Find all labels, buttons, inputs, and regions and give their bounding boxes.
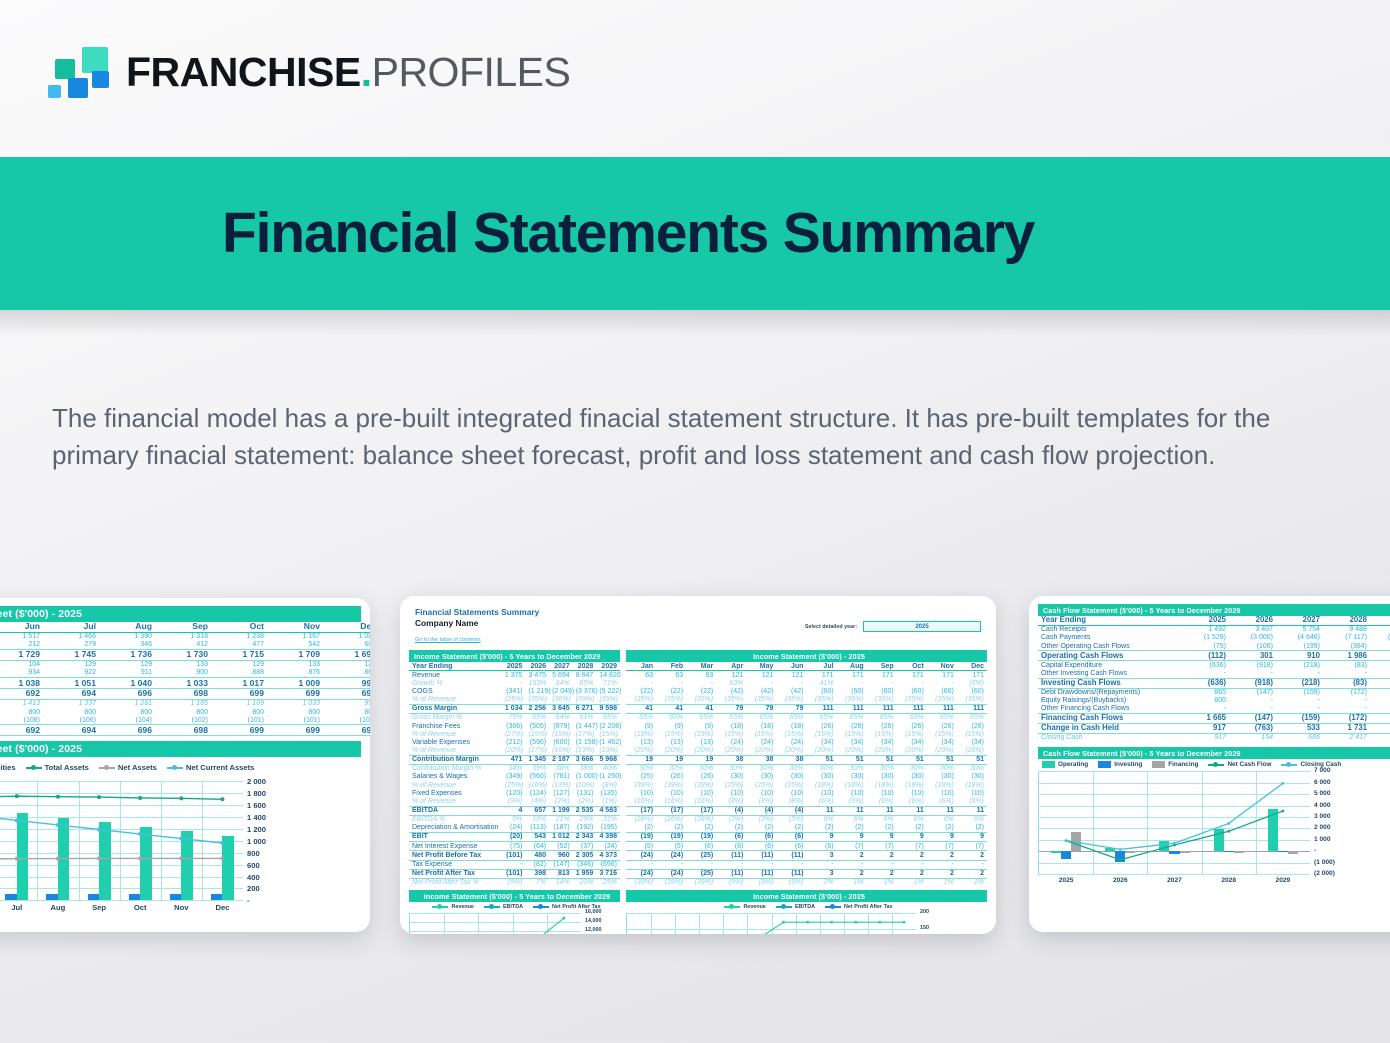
table-cell: (42) [776, 688, 806, 696]
legend-swatch [99, 767, 115, 769]
table-cell: Jun [776, 662, 806, 671]
legend-swatch [1208, 764, 1224, 766]
year-picker[interactable]: Select detailed year: 2025 [805, 621, 981, 632]
table-cell: (8%) [596, 781, 620, 789]
row-label: Net Interest Expense [409, 842, 502, 851]
y-axis-tick-label: - [1314, 847, 1316, 854]
table-cell: 30% [656, 765, 686, 774]
table-cell: (636) [1182, 678, 1229, 688]
table-cell: 11 [837, 806, 867, 815]
table-row: Net Profit Before Tax(101)4809602 3054 3… [409, 851, 620, 860]
table-cell: 153% [525, 680, 549, 688]
table-cell: (120) [502, 789, 526, 797]
table-cell: Dec [957, 662, 987, 671]
legend-item: Revenue [432, 904, 473, 910]
table-cell: (10) [927, 789, 957, 797]
table-cell: 30% [837, 765, 867, 774]
table-cell: 171 [957, 671, 987, 680]
table-cell: (2) [867, 824, 897, 833]
table-cell: (11) [776, 869, 806, 878]
table-cell: (20%) [897, 747, 927, 756]
table-cell: (341) [502, 688, 526, 696]
table-cell: (10) [776, 789, 806, 797]
table-cell: (30) [746, 773, 776, 781]
y-axis-tick-label: 7 000 [1314, 767, 1331, 774]
table-cell: 2 [897, 869, 927, 878]
row-label: Financing Cash Flows [1038, 714, 1182, 724]
table-cell: (11) [776, 851, 806, 860]
table-cell: 1 665 [1182, 714, 1229, 724]
table-cell: 6% [957, 815, 987, 824]
table-cell: 699 [211, 725, 267, 736]
legend-item: Financing [1152, 761, 1198, 768]
table-cell: 171 [806, 671, 836, 680]
table-cell: 64% [549, 714, 573, 723]
table-cell: (25%) [746, 781, 776, 789]
row-label: Gross Margin [409, 705, 502, 714]
table-cell: 301 [1229, 651, 1276, 661]
table-cell: (15%) [549, 730, 573, 738]
table-cell: Oct [897, 662, 927, 671]
table-row: (39%)(39%)(39%)(9%)(9%)(9%)2%1%1%1%1%1% [626, 878, 987, 887]
table-cell: 19 [656, 755, 686, 764]
table-cell: (2 049) [549, 688, 573, 696]
table-cell: - [1276, 705, 1323, 714]
table-cell: 9 [897, 833, 927, 842]
x-axis-tick-label: 2029 [1256, 877, 1310, 884]
table-cell: 38 [776, 755, 806, 764]
table-cell: 171 [927, 671, 957, 680]
table-cell: (35%) [867, 696, 897, 705]
legend-swatch [776, 906, 792, 908]
table-cell: (13) [656, 739, 686, 747]
y-axis-tick-label: - [247, 896, 250, 905]
table-row: (9)(9)(9)(18)(18)(18)(26)(26)(26)(26)(26… [626, 722, 987, 730]
table-row: EBIT(20)5431 0122 3434 398 [409, 833, 620, 842]
table-row: (20%)(20%)(20%)(20%)(20%)(20%)(20%)(20%)… [626, 747, 987, 756]
table-cell: (75) [502, 842, 526, 851]
table-row: 30%30%30%30%30%30%30%30%30%30%30%30% [626, 765, 987, 774]
income-statement-card: Financial Statements Summary Company Nam… [400, 596, 996, 934]
table-cell: (9) [626, 722, 656, 730]
table-cell: (1 529) [1182, 634, 1229, 642]
table-cell: Jun [0, 622, 43, 632]
is-2025-chart: Income Statement ($'000) - 2025 RevenueE… [626, 890, 987, 934]
table-cell: (1 000) [573, 773, 597, 781]
table-cell: 38 [746, 755, 776, 764]
row-label: % of Revenue [409, 730, 502, 738]
table-cell: (4) [716, 806, 746, 815]
table-cell: (42) [746, 688, 776, 696]
table-row: (97)(108)(106)(104)(102)(101)(101)(101) [0, 716, 370, 725]
table-cell: (20%) [746, 747, 776, 756]
table-cell: 111 [837, 705, 867, 714]
table-cell: 1 051 [43, 678, 99, 689]
table-row: (15%)(15%)(15%)(15%)(15%)(15%)(15%)(15%)… [626, 730, 987, 738]
table-cell: - [626, 860, 656, 869]
table-cell: (64) [525, 842, 549, 851]
table-cell: (15%) [837, 730, 867, 738]
table-cell: 5 968 [596, 755, 620, 764]
table-cell: (18%) [927, 781, 957, 789]
table-cell: 346 [99, 641, 155, 650]
table-cell: 2 [957, 869, 987, 878]
table-cell: 876 [267, 669, 323, 678]
table-cell: 2 417 [1323, 734, 1370, 743]
table-cell: (7) [957, 842, 987, 851]
table-cell: (2) [776, 824, 806, 833]
legend-swatch [1042, 761, 1055, 768]
legend-item: Total Assets [26, 763, 89, 772]
table-cell: (106) [1229, 642, 1276, 651]
table-cell: (26) [656, 773, 686, 781]
brand-name-light: PROFILES [372, 49, 571, 95]
table-row: 1 7491 7291 7451 7361 7301 7151 7091 693 [0, 650, 370, 661]
legend-label: Net Cash Flow [1227, 761, 1271, 768]
table-cell: (34) [837, 739, 867, 747]
table-row: Other Financing Cash Flows----- [1038, 705, 1390, 714]
table-cell: (763) [1229, 724, 1276, 734]
table-row: MayJunJulAugSepOctNovDec [0, 622, 370, 632]
table-cell: 865 [323, 669, 370, 678]
table-cell: (20%) [502, 747, 526, 756]
table-cell: 3 475 [525, 671, 549, 680]
table-cell: (13%) [549, 781, 573, 789]
table-cell: (20%) [867, 747, 897, 756]
table-cell: 543 [525, 833, 549, 842]
table-cell: 6% [837, 815, 867, 824]
legend-swatch [484, 906, 500, 908]
table-cell: 34% [502, 765, 526, 774]
table-cell: (26%) [626, 815, 656, 824]
table-cell: (35%) [746, 696, 776, 705]
table-cell: (101) [267, 716, 323, 725]
row-label: Net Profit After Tax % [409, 878, 502, 887]
table-cell: 1 492 [1182, 626, 1229, 635]
table-row: 65%65%65%65%65%65%65%65%65%65%65%65% [626, 714, 987, 723]
table-cell: 65% [957, 714, 987, 723]
row-label: Net Profit After Tax [409, 869, 502, 878]
table-cell: 911 [99, 669, 155, 678]
table-cell: Aug [99, 622, 155, 632]
table-row: Other Operating Cash Flows(75)(106)(199)… [1038, 642, 1390, 651]
year-picker-input[interactable]: 2025 [863, 621, 981, 632]
table-cell: 51 [837, 755, 867, 764]
table-cell: (10) [686, 789, 716, 797]
table-cell: (124) [525, 789, 549, 797]
table-cell: 2 [897, 851, 927, 860]
table-cell: (25%) [502, 696, 526, 705]
table-cell: 41 [686, 705, 716, 714]
legend-item: Current Liabilities [0, 763, 16, 772]
table-cell: (6%) [927, 798, 957, 807]
table-cell: 51 [897, 755, 927, 764]
legend-item: Net Assets [99, 763, 157, 772]
table-cell: 1% [897, 878, 927, 887]
table-cell: (20%) [716, 747, 746, 756]
table-cell: (4) [746, 806, 776, 815]
table-cell: 1 731 [1323, 724, 1370, 734]
legend-item: Operating [1042, 761, 1088, 768]
table-cell: (37) [573, 842, 597, 851]
table-cell: - [502, 680, 526, 688]
table-cell: - [1323, 705, 1370, 714]
table-cell: 30% [927, 765, 957, 774]
table-cell: 865 [1182, 688, 1229, 697]
table-cell: 2026 [525, 662, 549, 671]
table-row: Fixed Expenses(120)(124)(127)(131)(135) [409, 789, 620, 797]
table-cell: (8%) [746, 798, 776, 807]
table-cell: - [776, 680, 806, 688]
table-cell: (18%) [897, 781, 927, 789]
table-cell: 79 [746, 705, 776, 714]
table-cell: (35%) [806, 696, 836, 705]
table-cell: (25%) [716, 781, 746, 789]
table-cell: (15%) [716, 730, 746, 738]
table-row: Net Profit After Tax %(9%)7%14%20%25% [409, 878, 620, 887]
table-cell: - [1370, 661, 1390, 670]
table-cell: 41% [806, 680, 836, 688]
table-cell: 2 535 [573, 806, 597, 815]
table-cell: 9 488 [1323, 626, 1370, 635]
table-cell: (101) [323, 716, 370, 725]
y-axis-tick-label: 1 000 [1314, 836, 1331, 843]
table-cell: 800 [0, 708, 43, 716]
table-row: Gross Margin %75%65%64%61%65% [409, 714, 620, 723]
table-cell: (39%) [656, 781, 686, 789]
table-cell: (15%) [686, 730, 716, 738]
table-cell: 21% [549, 815, 573, 824]
table-cell: (9) [656, 722, 686, 730]
table-cell: (20%) [626, 747, 656, 756]
table-cell: (30) [897, 773, 927, 781]
table-cell: 698 [155, 725, 211, 736]
table-cell: (26) [957, 722, 987, 730]
chart-series-lines [0, 781, 243, 900]
table-cell: - [1323, 697, 1370, 705]
y-axis-tick-label: 3 000 [1314, 813, 1331, 820]
is-2025-chart-legend: RevenueEBITDANet Profit After Tax [626, 902, 987, 913]
table-cell: 1 709 [267, 650, 323, 661]
table-cell: (656) [596, 860, 620, 869]
table-cell: (2) [716, 824, 746, 833]
row-label: Net Profit Before Tax [409, 851, 502, 860]
table-cell: (16%) [626, 798, 656, 807]
table-cell: 65% [867, 714, 897, 723]
row-label: Depreciation & Amortisation [409, 824, 502, 833]
table-cell: (34) [867, 739, 897, 747]
y-axis-tick-label: 150 [920, 925, 929, 931]
table-cell: 111 [957, 705, 987, 714]
table-cell: 9 598 [596, 705, 620, 714]
table-cell: (2) [656, 824, 686, 833]
table-cell: (24) [746, 739, 776, 747]
chart-series-lines [1039, 771, 1310, 874]
table-row: Operating Cash Flows(112)3019101 9863 69… [1038, 651, 1390, 661]
table-cell: (3%) [746, 815, 776, 824]
table-cell: 51 [927, 755, 957, 764]
table-cell: 533 [1276, 724, 1323, 734]
table-cell: 65% [525, 714, 549, 723]
legend-label: Financing [1168, 761, 1198, 768]
table-cell: (24) [716, 739, 746, 747]
table-cell: (172) [1323, 688, 1370, 697]
table-cell: 477 [211, 641, 267, 650]
table-cell: (20%) [656, 747, 686, 756]
table-cell: 3 [806, 851, 836, 860]
table-cell: (19) [686, 833, 716, 842]
table-cell: 1 730 [155, 650, 211, 661]
table-cell: (127) [549, 789, 573, 797]
brand-wordmark: FRANCHISE.PROFILES [126, 52, 570, 93]
table-cell: (30) [867, 773, 897, 781]
table-cell: (26%) [686, 815, 716, 824]
table-cell: 1 390 [99, 632, 155, 641]
brand-name-dot: . [361, 49, 372, 95]
table-cell: (22) [686, 688, 716, 696]
table-cell: (18%) [837, 781, 867, 789]
table-cell: (15%) [776, 730, 806, 738]
table-cell: 813 [549, 869, 573, 878]
table-cell: 30% [806, 765, 836, 774]
table-cell: (6%) [897, 798, 927, 807]
balance-sheet-chart-legend: Current LiabilitiesTotal AssetsNet Asset… [0, 761, 361, 775]
table-cell: (104) [99, 716, 155, 725]
legend-swatch [724, 906, 740, 908]
table-row: 178212279346412477542606 [0, 641, 370, 650]
y-axis-tick-label: 1 800 [247, 789, 266, 798]
table-cell: May [746, 662, 776, 671]
brand-logo: FRANCHISE.PROFILES [46, 44, 570, 100]
table-cell: (2) [686, 824, 716, 833]
table-cell: (101) [211, 716, 267, 725]
table-cell: (680) [1370, 642, 1390, 651]
table-cell: 2 305 [573, 851, 597, 860]
table-cell: (7) [927, 842, 957, 851]
table-cell: 63 [656, 671, 686, 680]
table-cell: (9%) [776, 878, 806, 887]
table-cell: (26) [806, 722, 836, 730]
table-cell: (1%) [596, 798, 620, 807]
table-cell: (24) [502, 824, 526, 833]
table-row: % of Revenue(25%)(16%)(13%)(10%)(8%) [409, 781, 620, 789]
table-cell: 79 [776, 705, 806, 714]
table-cell: 6% [867, 815, 897, 824]
table-cell: 25% [596, 878, 620, 887]
table-cell: 71% [596, 680, 620, 688]
x-axis-tick-label: 2028 [1202, 877, 1256, 884]
legend-swatch [825, 906, 841, 908]
table-cell: 934 [0, 669, 43, 678]
table-cell: (34) [897, 739, 927, 747]
table-cell: (159) [1276, 688, 1323, 697]
table-cell: (6) [746, 833, 776, 842]
table-cell: - [867, 860, 897, 869]
table-cell: 65% [776, 714, 806, 723]
cf-chart-legend: OperatingInvestingFinancingNet Cash Flow… [1038, 759, 1390, 771]
table-cell: (30) [776, 773, 806, 781]
table-cell: (25) [626, 773, 656, 781]
row-label: % of Revenue [409, 798, 502, 807]
table-cell: (26) [867, 722, 897, 730]
table-cell: 9 [927, 833, 957, 842]
table-cell: Nov [927, 662, 957, 671]
table-cell: (346) [573, 860, 597, 869]
table-cell: (4) [776, 806, 806, 815]
table-cell: (15%) [867, 730, 897, 738]
table-cell: (26) [686, 773, 716, 781]
legend-swatch [167, 767, 183, 769]
table-cell: (11) [746, 869, 776, 878]
table-cell: 38 [716, 755, 746, 764]
table-cell: - [1182, 670, 1229, 679]
y-axis-tick-label: 2 000 [247, 777, 266, 786]
table-cell: (20%) [806, 747, 836, 756]
table-cell: (10) [957, 789, 987, 797]
legend-item: EBITDA [776, 904, 815, 910]
table-cell: 51 [957, 755, 987, 764]
is-5yr-chart: Income Statement ($'000) - 5 Years to De… [409, 890, 620, 934]
table-cell: 31% [596, 815, 620, 824]
legend-item: Net Profit After Tax [825, 904, 893, 910]
brand-name-bold: FRANCHISE [126, 49, 361, 95]
y-axis-tick-label: 16,000 [585, 909, 602, 915]
table-cell: - [656, 680, 686, 688]
table-cell: (15%) [525, 730, 549, 738]
table-row: Year Ending20252026202720282029 [409, 662, 620, 671]
legend-label: Operating [1058, 761, 1088, 768]
table-cell: 3 407 [1229, 626, 1276, 635]
table-row: 1 4711 4131 3371 2611 1851 1091 033958 [0, 700, 370, 709]
year-picker-label: Select detailed year: [805, 624, 857, 630]
table-row: (24)(24)(25)(11)(11)(11)322222 [626, 851, 987, 860]
table-cell: - [806, 860, 836, 869]
table-cell: 993 [323, 678, 370, 689]
table-cell: 129 [43, 661, 99, 670]
legend-swatch [1098, 761, 1111, 768]
table-cell: (15%) [806, 730, 836, 738]
table-cell: (60) [927, 688, 957, 696]
legend-swatch [432, 906, 448, 908]
table-cell: (30) [927, 773, 957, 781]
table-cell: - [867, 680, 897, 688]
row-label: Other Operating Cash Flows [1038, 642, 1182, 651]
table-cell: (1 462) [596, 739, 620, 747]
income-statement-5yr-table: Year Ending20252026202720282029Revenue1 … [409, 662, 620, 887]
intro-paragraph: The financial model has a pre-built inte… [52, 400, 1342, 474]
table-cell: (10%) [573, 781, 597, 789]
table-of-contents-link[interactable]: Go to the table of contents [415, 637, 481, 643]
table-cell: (7) [897, 842, 927, 851]
table-cell: 2027 [549, 662, 573, 671]
table-row: Net Profit After Tax(101)3988131 9593 71… [409, 869, 620, 878]
balance-sheet-table-title: Balance Sheet ($'000) - 2025 [0, 606, 361, 622]
table-cell: - [1276, 670, 1323, 679]
table-cell: (20%) [957, 747, 987, 756]
table-row: Financing Cash Flows1 665(147)(159)(172)… [1038, 714, 1390, 724]
row-label: Year Ending [1038, 616, 1182, 626]
table-cell: (35%) [626, 696, 656, 705]
table-cell: 696 [99, 689, 155, 700]
table-cell: (9%) [502, 798, 526, 807]
table-row: Depreciation & Amortisation(24)(113)(187… [409, 824, 620, 833]
table-cell: (6) [746, 842, 776, 851]
table-row: Franchise Fees(366)(505)(879)(1 447)(2 2… [409, 722, 620, 730]
table-cell: (1 158) [573, 739, 597, 747]
table-cell: (8%) [776, 798, 806, 807]
table-cell: - [897, 860, 927, 869]
table-cell: (25%) [502, 781, 526, 789]
